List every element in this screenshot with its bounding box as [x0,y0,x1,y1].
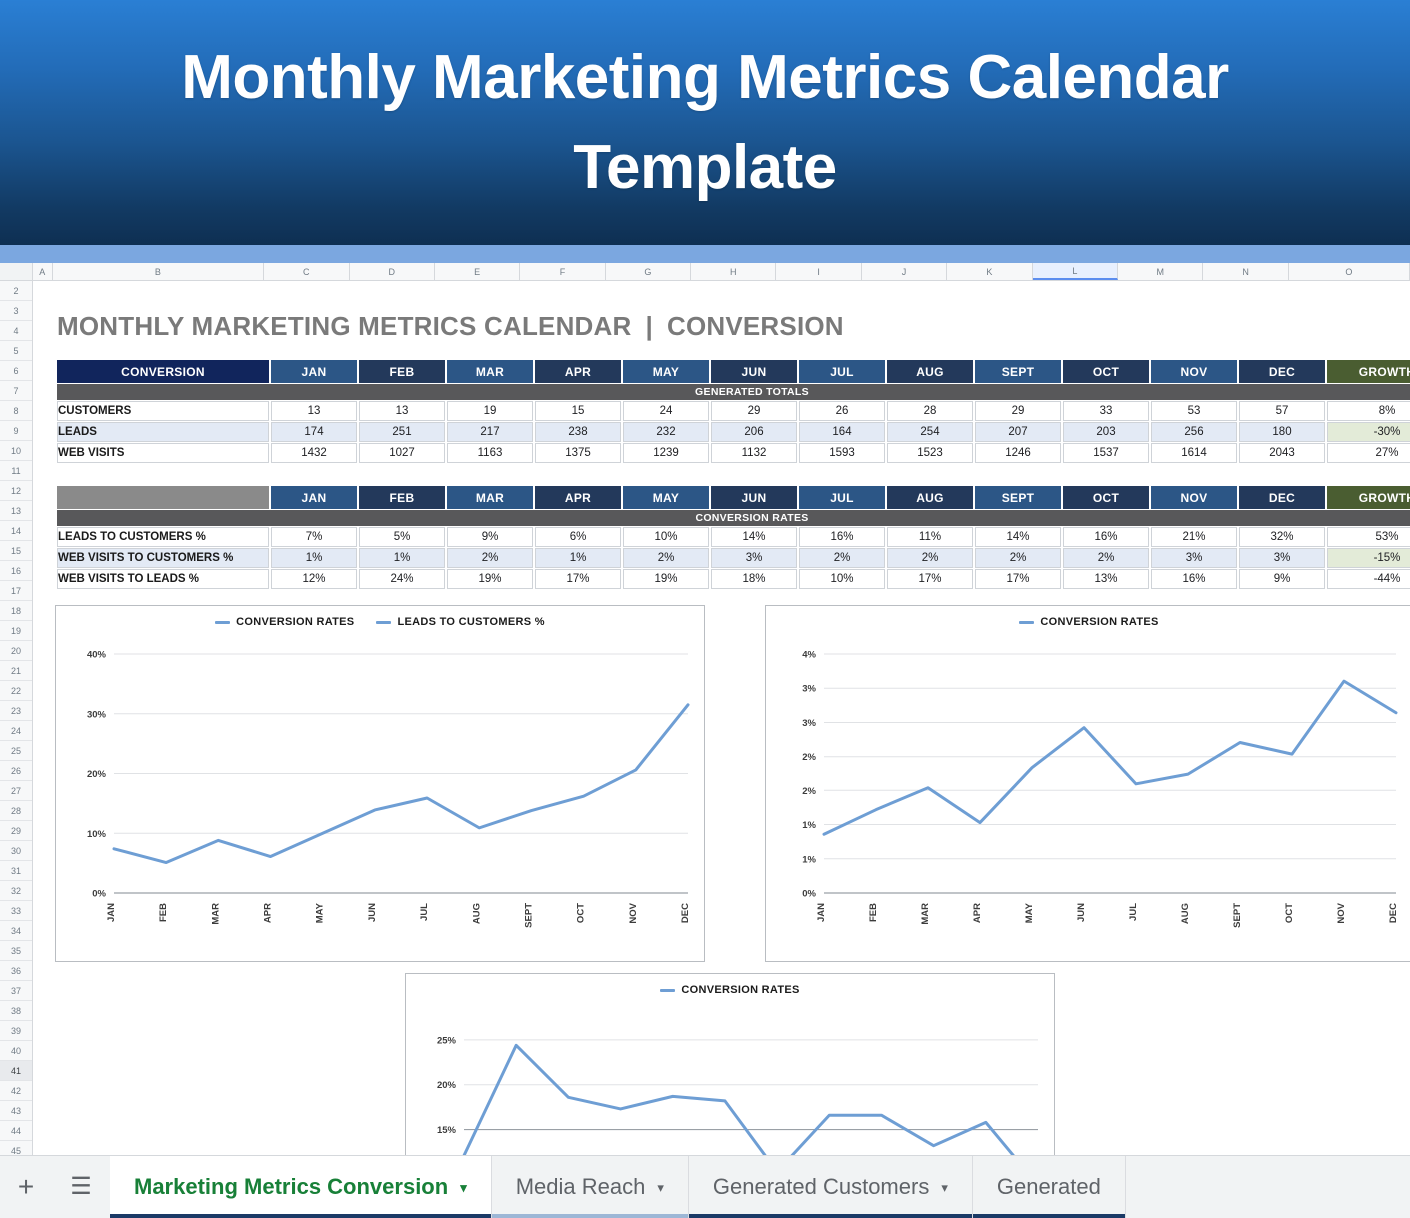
row-header-18[interactable]: 18 [0,601,32,621]
month-header-feb: FEB [359,360,445,383]
row-header-34[interactable]: 34 [0,921,32,941]
data-cell[interactable]: 24% [359,569,445,589]
row-header-27[interactable]: 27 [0,781,32,801]
row-header-23[interactable]: 23 [0,701,32,721]
data-cell[interactable]: 57 [1239,401,1325,421]
x-axis-tick-label: MAR [210,903,221,925]
row-header-26[interactable]: 26 [0,761,32,781]
data-cell[interactable]: 5% [359,527,445,547]
growth-cell[interactable]: -15% [1327,548,1410,568]
data-cell[interactable]: 19 [447,401,533,421]
row-header-17[interactable]: 17 [0,581,32,601]
x-axis-tick-label: FEB [158,903,169,922]
y-axis-tick-label: 1% [802,820,816,831]
data-cell[interactable]: 29 [975,401,1061,421]
column-header-e[interactable]: E [435,263,520,280]
row-header-14[interactable]: 14 [0,521,32,541]
month-header-jul: JUL [799,360,885,383]
data-cell[interactable]: 12% [271,569,357,589]
column-header-j[interactable]: J [862,263,947,280]
column-header-b[interactable]: B [53,263,264,280]
data-cell[interactable]: 238 [535,422,621,442]
sheet-tab-label: Generated Customers [713,1174,929,1200]
y-axis-tick-label: 30% [87,709,107,720]
data-cell[interactable]: 1239 [623,443,709,463]
sheet-tab[interactable]: Media Reach▾ [492,1156,689,1218]
data-cell[interactable]: 19% [623,569,709,589]
sheet-title-left: MONTHLY MARKETING METRICS CALENDAR [57,311,631,341]
section-band: CONVERSION RATES [57,510,1410,526]
row-header-33[interactable]: 33 [0,901,32,921]
data-cell[interactable]: 21% [1151,527,1237,547]
x-axis-tick-label: APR [972,903,983,923]
column-header-m[interactable]: M [1118,263,1203,280]
chart-web-visits-to-leads[interactable]: CONVERSION RATES 15%20%25% [405,973,1055,1155]
x-axis-tick-label: JAN [106,903,117,922]
sheet-tab[interactable]: Marketing Metrics Conversion▾ [110,1156,492,1218]
x-axis-tick-label: AUG [1180,903,1191,924]
data-cell[interactable]: 1% [359,548,445,568]
column-header-a[interactable]: A [33,263,53,280]
data-cell[interactable]: 26 [799,401,885,421]
row-header-41[interactable]: 41 [0,1061,32,1081]
row-header-29[interactable]: 29 [0,821,32,841]
column-header-k[interactable]: K [947,263,1032,280]
row-header-28[interactable]: 28 [0,801,32,821]
month-header-oct: OCT [1063,486,1149,509]
y-axis-tick-label: 1% [802,854,816,865]
y-axis-tick-label: 4% [802,650,816,661]
row-header-4[interactable]: 4 [0,321,32,341]
row-header-35[interactable]: 35 [0,941,32,961]
data-cell[interactable]: 1% [535,548,621,568]
y-axis-tick-label: 3% [802,718,816,729]
data-cell[interactable]: 32% [1239,527,1325,547]
section-band: GENERATED TOTALS [57,384,1410,400]
column-header-i[interactable]: I [776,263,861,280]
data-cell[interactable]: 13 [359,401,445,421]
x-axis-tick-label: SEPT [1232,903,1243,928]
row-header-12[interactable]: 12 [0,481,32,501]
data-cell[interactable]: 17% [887,569,973,589]
month-header-oct: OCT [1063,360,1149,383]
data-cell[interactable]: 13 [271,401,357,421]
month-header-apr: APR [535,486,621,509]
sheet-tabs[interactable]: Marketing Metrics Conversion▾Media Reach… [110,1156,1126,1218]
sheet-tab-label: Marketing Metrics Conversion [134,1174,448,1200]
data-cell[interactable]: 24 [623,401,709,421]
sheet-tab-underline [110,1214,491,1218]
x-axis-tick-label: NOV [1336,902,1347,923]
row-header-20[interactable]: 20 [0,641,32,661]
x-axis-tick-label: JUL [419,903,430,921]
data-cell[interactable]: 10% [623,527,709,547]
x-axis-tick-label: DEC [1388,903,1399,923]
row-label: CUSTOMERS [57,401,269,421]
row-header-43[interactable]: 43 [0,1101,32,1121]
add-sheet-button[interactable]: + [0,1156,52,1218]
x-axis-tick-label: JUL [1128,903,1139,921]
growth-cell[interactable]: -30% [1327,422,1410,442]
column-header-h[interactable]: H [691,263,776,280]
row-header-10[interactable]: 10 [0,441,32,461]
data-cell[interactable]: 33 [1063,401,1149,421]
x-axis-tick-label: JUN [1076,903,1087,922]
data-cell[interactable]: 1027 [359,443,445,463]
y-axis-tick-label: 10% [87,829,107,840]
x-axis-tick-label: SEPT [523,903,534,928]
chevron-down-icon[interactable]: ▾ [941,1181,948,1194]
data-cell[interactable]: 256 [1151,422,1237,442]
row-header-19[interactable]: 19 [0,621,32,641]
sheet-tab-label: Media Reach [516,1174,646,1200]
data-cell[interactable]: 1523 [887,443,973,463]
chevron-down-icon[interactable]: ▾ [657,1181,664,1194]
sheet-tab[interactable]: Generated Customers▾ [689,1156,973,1218]
row-header-7[interactable]: 7 [0,381,32,401]
chart-2-plot: 15%20%25% [406,974,1055,1155]
data-cell[interactable]: 14% [975,527,1061,547]
data-cell[interactable]: 9% [447,527,533,547]
data-cell[interactable]: 53 [1151,401,1237,421]
series-line [824,681,1396,834]
banner-title: Monthly Marketing Metrics Calendar Templ… [85,33,1325,213]
table-corner-header [57,486,269,509]
row-header-44[interactable]: 44 [0,1121,32,1141]
row-header-36[interactable]: 36 [0,961,32,981]
data-cell[interactable]: 16% [1063,527,1149,547]
data-cell[interactable]: 1163 [447,443,533,463]
row-header-6[interactable]: 6 [0,361,32,381]
column-header-d[interactable]: D [350,263,435,280]
data-cell[interactable]: 2043 [1239,443,1325,463]
y-axis-tick-label: 25% [437,1035,457,1046]
sheet-tab[interactable]: Generated [973,1156,1126,1218]
column-header-n[interactable]: N [1203,263,1288,280]
row-label: LEADS [57,422,269,442]
sheet-tab-underline [492,1214,688,1218]
sheet-tab-bar[interactable]: + ☰ Marketing Metrics Conversion▾Media R… [0,1155,1410,1218]
y-axis-tick-label: 3% [802,684,816,695]
sheet-tab-label: Generated [997,1174,1101,1200]
row-header-bar[interactable]: 2345678910111213141516171819202122232425… [0,281,33,1155]
month-header-sept: SEPT [975,360,1061,383]
month-header-jun: JUN [711,360,797,383]
data-cell[interactable]: 1% [271,548,357,568]
y-axis-tick-label: 2% [802,786,816,797]
chart-web-visits-to-customers[interactable]: CONVERSION RATES 0%1%1%2%2%3%3%4%JANFEBM… [765,605,1410,962]
month-header-sept: SEPT [975,486,1061,509]
chart-0-plot: 0%10%20%30%40%JANFEBMARAPRMAYJUNJULAUGSE… [56,606,706,963]
y-axis-tick-label: 40% [87,650,107,661]
row-header-25[interactable]: 25 [0,741,32,761]
x-axis-tick-label: APR [263,903,274,923]
row-header-30[interactable]: 30 [0,841,32,861]
month-header-jul: JUL [799,486,885,509]
row-header-37[interactable]: 37 [0,981,32,1001]
chart-1-plot: 0%1%1%2%2%3%3%4%JANFEBMARAPRMAYJUNJULAUG… [766,606,1410,963]
data-cell[interactable]: 1593 [799,443,885,463]
row-header-11[interactable]: 11 [0,461,32,481]
data-cell[interactable]: 206 [711,422,797,442]
month-header-dec: DEC [1239,360,1325,383]
row-label: WEB VISITS [57,443,269,463]
month-header-feb: FEB [359,486,445,509]
x-axis-tick-label: DEC [680,903,691,923]
row-header-5[interactable]: 5 [0,341,32,361]
data-cell[interactable]: 2% [447,548,533,568]
row-header-32[interactable]: 32 [0,881,32,901]
row-label: WEB VISITS TO LEADS % [57,569,269,589]
x-axis-tick-label: MAY [315,902,326,923]
data-cell[interactable]: 2% [975,548,1061,568]
data-cell[interactable]: 11% [887,527,973,547]
month-header-apr: APR [535,360,621,383]
row-header-40[interactable]: 40 [0,1041,32,1061]
growth-cell[interactable]: 8% [1327,401,1410,421]
data-cell[interactable]: 203 [1063,422,1149,442]
conversion-rates-table[interactable]: JANFEBMARAPRMAYJUNJULAUGSEPTOCTNOVDECGRO… [55,485,1410,590]
month-header-mar: MAR [447,360,533,383]
x-axis-tick-label: OCT [576,903,587,923]
x-axis-tick-label: AUG [471,903,482,924]
month-header-nov: NOV [1151,360,1237,383]
row-header-39[interactable]: 39 [0,1021,32,1041]
month-header-jan: JAN [271,486,357,509]
select-all-corner[interactable] [0,263,33,280]
table-corner-header: CONVERSION [57,360,269,383]
month-header-may: MAY [623,360,709,383]
month-header-aug: AUG [887,360,973,383]
chart-leads-to-customers[interactable]: CONVERSION RATESLEADS TO CUSTOMERS % 0%1… [55,605,705,962]
row-header-21[interactable]: 21 [0,661,32,681]
row-header-42[interactable]: 42 [0,1081,32,1101]
month-header-dec: DEC [1239,486,1325,509]
column-header-g[interactable]: G [606,263,691,280]
row-header-31[interactable]: 31 [0,861,32,881]
x-axis-tick-label: JUN [367,903,378,922]
growth-cell[interactable]: -44% [1327,569,1410,589]
x-axis-tick-label: OCT [1284,903,1295,923]
all-sheets-menu-icon[interactable]: ☰ [52,1156,110,1218]
grid-area[interactable]: MONTHLY MARKETING METRICS CALENDAR|CONVE… [33,281,1410,1155]
data-cell[interactable]: 2% [1063,548,1149,568]
data-cell[interactable]: 1132 [711,443,797,463]
data-cell[interactable]: 180 [1239,422,1325,442]
table-row[interactable]: LEADS17425121723823220616425420720325618… [57,422,1410,442]
x-axis-tick-label: MAY [1024,902,1035,923]
data-cell[interactable]: 7% [271,527,357,547]
data-cell[interactable]: 2% [623,548,709,568]
sheet-title-divider: | [631,311,666,341]
row-header-24[interactable]: 24 [0,721,32,741]
data-cell[interactable]: 174 [271,422,357,442]
data-cell[interactable]: 28 [887,401,973,421]
month-header-aug: AUG [887,486,973,509]
sheet-tab-underline [973,1214,1125,1218]
data-cell[interactable]: 2% [799,548,885,568]
month-header-jan: JAN [271,360,357,383]
sheet-page-title: MONTHLY MARKETING METRICS CALENDAR|CONVE… [57,311,844,342]
x-axis-tick-label: MAR [920,903,931,925]
column-header-l[interactable]: L [1033,263,1118,280]
sheet-tab-underline [689,1214,972,1218]
x-axis-tick-label: NOV [628,902,639,923]
table-row[interactable]: WEB VISITS TO LEADS %12%24%19%17%19%18%1… [57,569,1410,589]
growth-cell[interactable]: 53% [1327,527,1410,547]
data-cell[interactable]: 16% [1151,569,1237,589]
row-header-38[interactable]: 38 [0,1001,32,1021]
data-cell[interactable]: 3% [1239,548,1325,568]
data-cell[interactable]: 18% [711,569,797,589]
growth-header: GROWTH [1327,360,1410,383]
table-row[interactable]: CUSTOMERS1313191524292628293353578% [57,401,1410,421]
data-cell[interactable]: 10% [799,569,885,589]
spreadsheet: ABCDEFGHIJKLMNO 234567891011121314151617… [0,263,1410,1155]
table-row[interactable]: LEADS TO CUSTOMERS %7%5%9%6%10%14%16%11%… [57,527,1410,547]
row-header-16[interactable]: 16 [0,561,32,581]
data-cell[interactable]: 14% [711,527,797,547]
page-banner: Monthly Marketing Metrics Calendar Templ… [0,0,1410,245]
y-axis-tick-label: 20% [437,1080,457,1091]
data-cell[interactable]: 29 [711,401,797,421]
x-axis-tick-label: JAN [816,903,827,922]
data-cell[interactable]: 1432 [271,443,357,463]
data-cell[interactable]: 207 [975,422,1061,442]
growth-header: GROWTH [1327,486,1410,509]
data-cell[interactable]: 16% [799,527,885,547]
y-axis-tick-label: 2% [802,752,816,763]
y-axis-tick-label: 15% [437,1125,457,1136]
data-cell[interactable]: 3% [711,548,797,568]
y-axis-tick-label: 0% [92,889,106,900]
data-cell[interactable]: 6% [535,527,621,547]
data-cell[interactable]: 254 [887,422,973,442]
data-cell[interactable]: 1246 [975,443,1061,463]
column-header-o[interactable]: O [1289,263,1410,280]
sheet-title-right: CONVERSION [667,311,844,341]
column-header-c[interactable]: C [264,263,349,280]
data-cell[interactable]: 2% [887,548,973,568]
growth-cell[interactable]: 27% [1327,443,1410,463]
month-header-jun: JUN [711,486,797,509]
data-cell[interactable]: 1614 [1151,443,1237,463]
data-cell[interactable]: 17% [535,569,621,589]
data-cell[interactable]: 9% [1239,569,1325,589]
row-header-8[interactable]: 8 [0,401,32,421]
row-header-9[interactable]: 9 [0,421,32,441]
generated-totals-table[interactable]: CONVERSIONJANFEBMARAPRMAYJUNJULAUGSEPTOC… [55,359,1410,464]
banner-accent-strip [0,245,1410,263]
row-header-13[interactable]: 13 [0,501,32,521]
month-header-mar: MAR [447,486,533,509]
row-header-2[interactable]: 2 [0,281,32,301]
chevron-down-icon[interactable]: ▾ [460,1181,467,1194]
data-cell[interactable]: 19% [447,569,533,589]
data-cell[interactable]: 15 [535,401,621,421]
column-header-bar[interactable]: ABCDEFGHIJKLMNO [0,263,1410,281]
column-header-f[interactable]: F [520,263,605,280]
data-cell[interactable]: 164 [799,422,885,442]
x-axis-tick-label: FEB [868,903,879,922]
series-line [114,705,688,863]
month-header-nov: NOV [1151,486,1237,509]
data-cell[interactable]: 17% [975,569,1061,589]
data-cell[interactable]: 3% [1151,548,1237,568]
table-row[interactable]: WEB VISITS143210271163137512391132159315… [57,443,1410,463]
y-axis-tick-label: 20% [87,769,107,780]
row-header-22[interactable]: 22 [0,681,32,701]
row-label: WEB VISITS TO CUSTOMERS % [57,548,269,568]
y-axis-tick-label: 0% [802,889,816,900]
row-header-15[interactable]: 15 [0,541,32,561]
data-cell[interactable]: 1537 [1063,443,1149,463]
table-row[interactable]: WEB VISITS TO CUSTOMERS %1%1%2%1%2%3%2%2… [57,548,1410,568]
series-line [464,1045,1038,1155]
row-label: LEADS TO CUSTOMERS % [57,527,269,547]
data-cell[interactable]: 13% [1063,569,1149,589]
data-cell[interactable]: 1375 [535,443,621,463]
data-cell[interactable]: 232 [623,422,709,442]
row-header-3[interactable]: 3 [0,301,32,321]
month-header-may: MAY [623,486,709,509]
data-cell[interactable]: 251 [359,422,445,442]
data-cell[interactable]: 217 [447,422,533,442]
